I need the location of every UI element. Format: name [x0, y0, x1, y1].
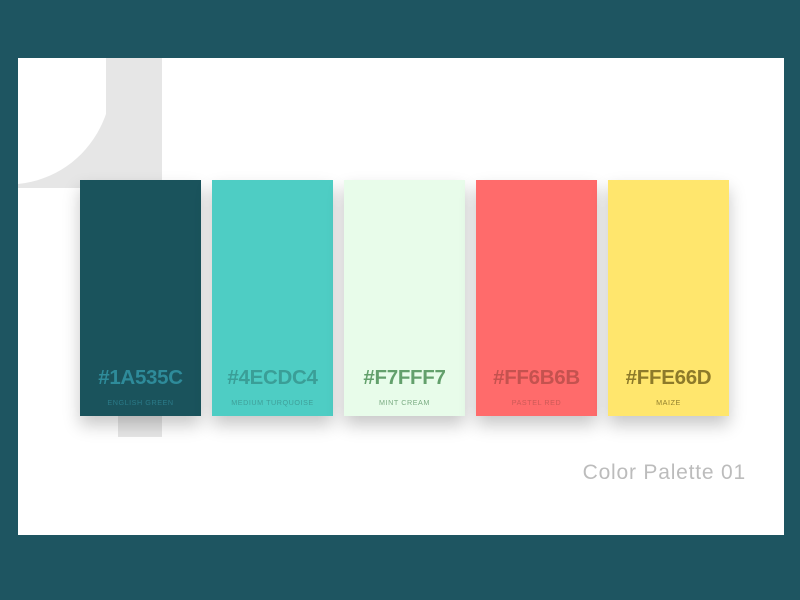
swatch-card[interactable]: #1A535C ENGLISH GREEN: [80, 180, 201, 416]
swatch-card[interactable]: #FFE66D MAIZE: [608, 180, 729, 416]
swatch-name-label: MAIZE: [656, 399, 681, 406]
swatch-name-label: ENGLISH GREEN: [107, 399, 173, 406]
slide-canvas: #1A535C ENGLISH GREEN #4ECDC4 MEDIUM TUR…: [0, 0, 800, 600]
swatch-card[interactable]: #4ECDC4 MEDIUM TURQUOISE: [212, 180, 333, 416]
swatch-name-label: MINT CREAM: [379, 399, 430, 406]
swatch-card[interactable]: #F7FFF7 MINT CREAM: [344, 180, 465, 416]
swatch-hex-label: #1A535C: [98, 368, 183, 389]
swatch-name-label: MEDIUM TURQUOISE: [231, 399, 314, 406]
palette-card: #1A535C ENGLISH GREEN #4ECDC4 MEDIUM TUR…: [18, 58, 784, 535]
palette-caption: Color Palette 01: [583, 461, 746, 485]
swatch-hex-label: #4ECDC4: [227, 368, 317, 389]
swatch-row: #1A535C ENGLISH GREEN #4ECDC4 MEDIUM TUR…: [80, 180, 730, 416]
swatch-card[interactable]: #FF6B6B PASTEL RED: [476, 180, 597, 416]
swatch-hex-label: #FFE66D: [626, 368, 712, 389]
swatch-name-label: PASTEL RED: [512, 399, 561, 406]
swatch-hex-label: #F7FFF7: [363, 368, 445, 389]
swatch-hex-label: #FF6B6B: [493, 368, 580, 389]
